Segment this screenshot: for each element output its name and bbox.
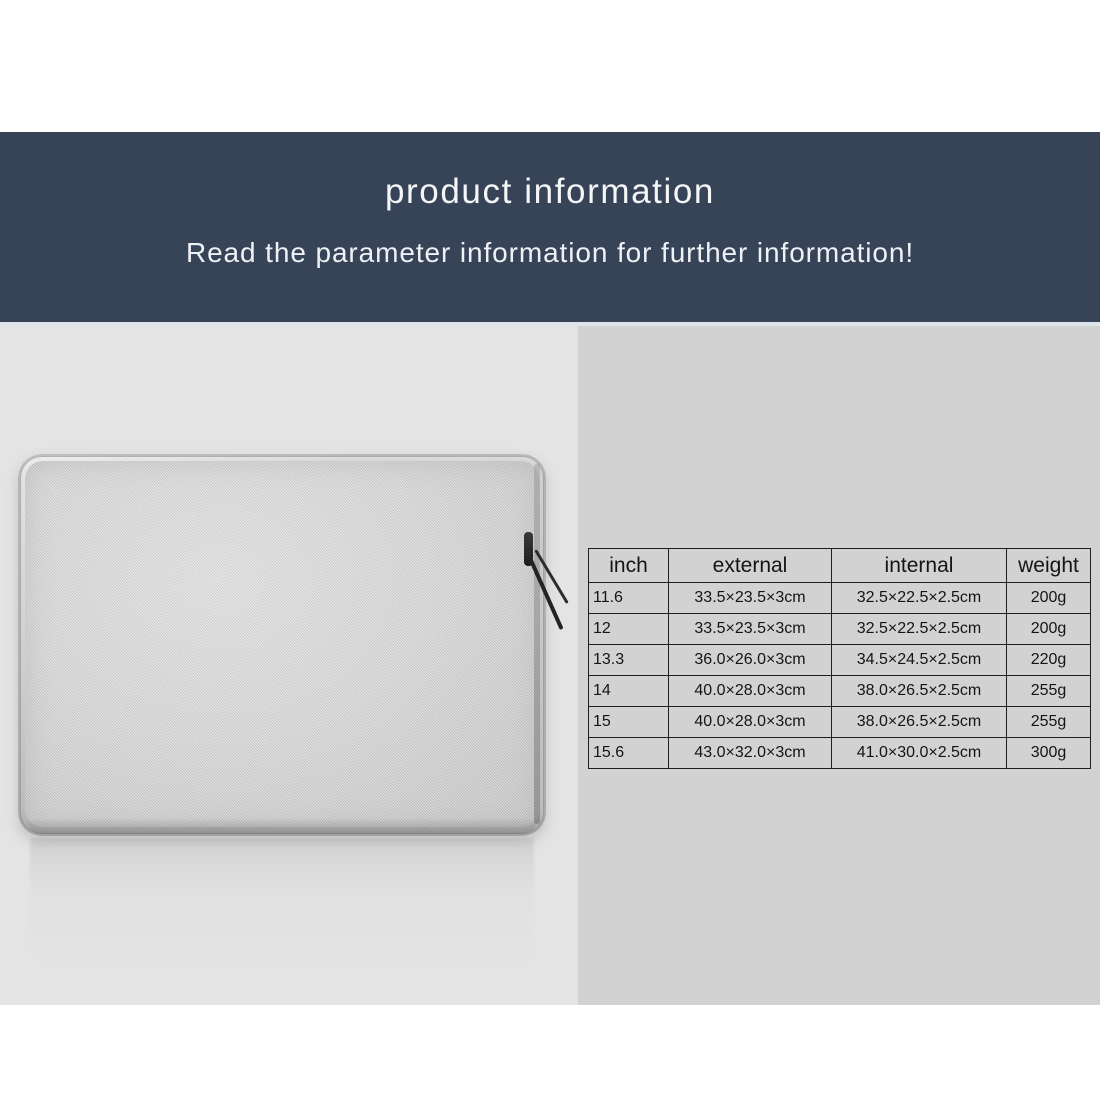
cell-inch: 11.6 — [589, 583, 669, 614]
product-information-banner: product information Read the parameter i… — [0, 132, 1100, 322]
cell-inch: 15.6 — [589, 738, 669, 769]
cell-inch: 14 — [589, 676, 669, 707]
zipper-track-icon — [534, 464, 540, 824]
cell-external: 40.0×28.0×3cm — [669, 707, 832, 738]
column-header-inch: inch — [589, 549, 669, 583]
table-row: 15.6 43.0×32.0×3cm 41.0×30.0×2.5cm 300g — [589, 738, 1091, 769]
cell-inch: 13.3 — [589, 645, 669, 676]
cell-weight: 200g — [1007, 583, 1091, 614]
cell-weight: 255g — [1007, 707, 1091, 738]
cell-weight: 220g — [1007, 645, 1091, 676]
sleeve-reflection — [30, 838, 534, 966]
table-row: 11.6 33.5×23.5×3cm 32.5×22.5×2.5cm 200g — [589, 583, 1091, 614]
cell-weight: 255g — [1007, 676, 1091, 707]
page-title: product information — [0, 172, 1100, 212]
laptop-sleeve — [18, 454, 546, 836]
cell-external: 40.0×28.0×3cm — [669, 676, 832, 707]
spec-table-wrap: inch external internal weight 11.6 33.5×… — [588, 548, 1090, 769]
table-row: 13.3 36.0×26.0×3cm 34.5×24.5×2.5cm 220g — [589, 645, 1091, 676]
cell-external: 33.5×23.5×3cm — [669, 614, 832, 645]
content-area: inch external internal weight 11.6 33.5×… — [0, 326, 1100, 1005]
laptop-sleeve-photo — [0, 326, 578, 1005]
cell-internal: 38.0×26.5×2.5cm — [832, 676, 1007, 707]
sleeve-fabric-face — [25, 461, 539, 827]
cell-weight: 200g — [1007, 614, 1091, 645]
table-row: 14 40.0×28.0×3cm 38.0×26.5×2.5cm 255g — [589, 676, 1091, 707]
column-header-internal: internal — [832, 549, 1007, 583]
specification-pane: inch external internal weight 11.6 33.5×… — [578, 326, 1100, 1005]
size-specification-table: inch external internal weight 11.6 33.5×… — [588, 548, 1091, 769]
product-photo-pane — [0, 326, 578, 1005]
cell-internal: 32.5×22.5×2.5cm — [832, 583, 1007, 614]
table-row: 15 40.0×28.0×3cm 38.0×26.5×2.5cm 255g — [589, 707, 1091, 738]
cell-external: 33.5×23.5×3cm — [669, 583, 832, 614]
column-header-external: external — [669, 549, 832, 583]
cell-internal: 32.5×22.5×2.5cm — [832, 614, 1007, 645]
table-header-row: inch external internal weight — [589, 549, 1091, 583]
cell-inch: 12 — [589, 614, 669, 645]
cell-internal: 38.0×26.5×2.5cm — [832, 707, 1007, 738]
product-information-page: product information Read the parameter i… — [0, 0, 1100, 1100]
sleeve-bottom-shadow — [26, 818, 538, 834]
cell-external: 36.0×26.0×3cm — [669, 645, 832, 676]
column-header-weight: weight — [1007, 549, 1091, 583]
page-subtitle: Read the parameter information for furth… — [0, 237, 1100, 269]
cell-external: 43.0×32.0×3cm — [669, 738, 832, 769]
cell-internal: 34.5×24.5×2.5cm — [832, 645, 1007, 676]
cell-internal: 41.0×30.0×2.5cm — [832, 738, 1007, 769]
cell-weight: 300g — [1007, 738, 1091, 769]
table-row: 12 33.5×23.5×3cm 32.5×22.5×2.5cm 200g — [589, 614, 1091, 645]
cell-inch: 15 — [589, 707, 669, 738]
